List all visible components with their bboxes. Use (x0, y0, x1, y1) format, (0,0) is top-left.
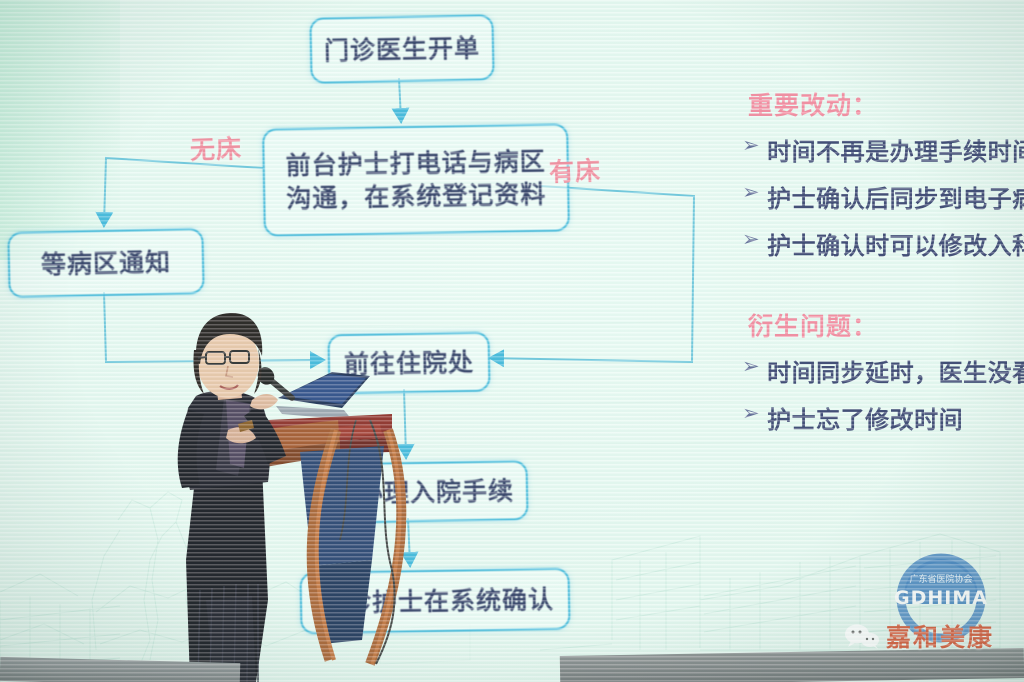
wechat-watermark: 嘉和美康 (844, 618, 994, 654)
speaker-figure (178, 313, 286, 682)
logo-wordmark: GDHIMA (894, 587, 988, 609)
wechat-bubbles-icon (844, 623, 880, 649)
speaker-and-podium (0, 0, 1024, 682)
logo-arc-text: 广东省医院协会 (909, 573, 972, 585)
watermark-text: 嘉和美康 (886, 618, 994, 654)
presentation-photo: 门诊医生开单 前台护士打电话与病区沟通，在系统登记资料 等病区通知 前往住院处 … (0, 0, 1024, 682)
